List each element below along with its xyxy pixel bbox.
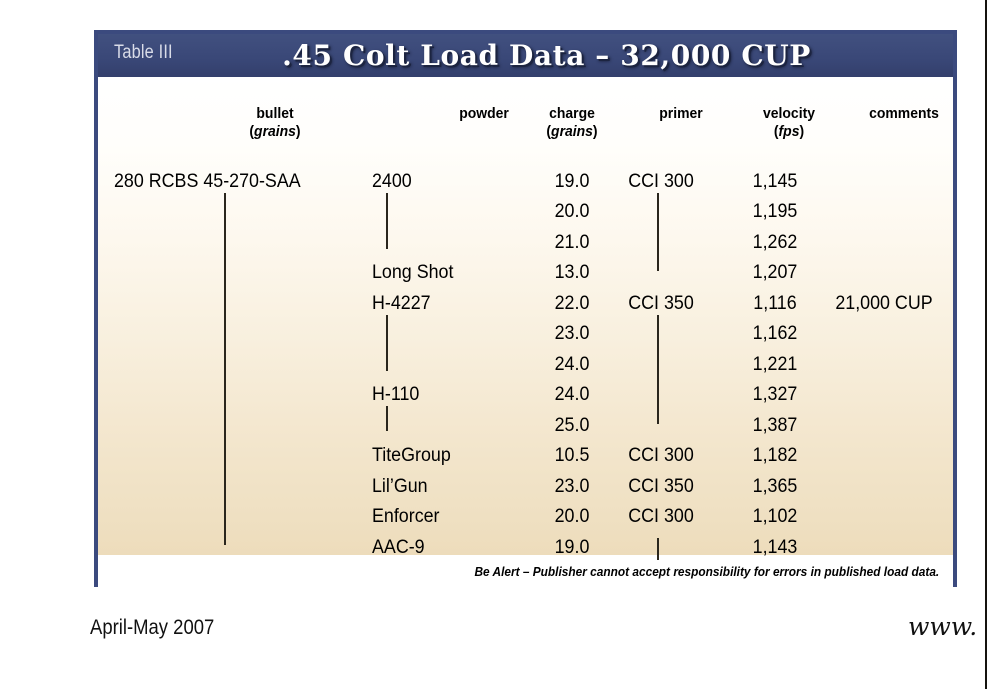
primer-continuation-rule-cci350 [657, 315, 659, 424]
table-row: 1,207 [690, 263, 859, 283]
table-row: Lil’Gun [372, 477, 428, 497]
column-header-bullet-name: bullet [159, 105, 392, 123]
table-row: 280 RCBS 45-270-SAA [114, 172, 301, 192]
table-row: 1,182 [690, 446, 859, 466]
table-row: AAC-9 [372, 538, 425, 558]
table-row: 21.0 [487, 233, 656, 253]
page-footer-url: www. [908, 612, 977, 641]
table-row: 20.0 [487, 202, 656, 222]
table-row: 1,327 [690, 385, 859, 405]
column-header-comments: comments [820, 105, 987, 123]
table-row: 1,262 [690, 233, 859, 253]
page-edge-rule [985, 0, 987, 689]
page-footer-date: April-May 2007 [90, 616, 214, 640]
powder-continuation-rule-h110 [386, 406, 388, 431]
table-row: 1,387 [690, 416, 859, 436]
table-row: 24.0 [487, 355, 656, 375]
table-row: 21,000 CUP [799, 294, 968, 314]
column-header-bullet-unit: (grains) [159, 123, 392, 141]
table-row: 23.0 [487, 324, 656, 344]
table-row: 1,365 [690, 477, 859, 497]
column-header-comments-name: comments [820, 105, 987, 123]
table-title: .45 Colt Load Data – 32,000 CUP [98, 39, 953, 72]
bullet-column-continuation-rule [224, 193, 226, 545]
table-row: Enforcer [372, 507, 440, 527]
table-row: 25.0 [487, 416, 656, 436]
table-row: 19.0 [487, 538, 656, 558]
table-row: TiteGroup [372, 446, 451, 466]
load-data-table: Table III .45 Colt Load Data – 32,000 CU… [94, 30, 957, 587]
table-row: 1,221 [690, 355, 859, 375]
primer-continuation-rule-cci300 [657, 193, 659, 271]
column-header-velocity-unit: (fps) [705, 123, 872, 141]
table-row: Long Shot [372, 263, 453, 283]
powder-continuation-rule-2400 [386, 193, 388, 249]
table-row: 13.0 [487, 263, 656, 283]
table-row: 2400 [372, 172, 412, 192]
table-row: 1,145 [690, 172, 859, 192]
table-row: 1,195 [690, 202, 859, 222]
table-disclaimer: Be Alert – Publisher cannot accept respo… [474, 565, 939, 579]
table-row: H-4227 [372, 294, 431, 314]
table-title-bar: Table III .45 Colt Load Data – 32,000 CU… [98, 34, 953, 77]
primer-continuation-rule-aac9 [657, 538, 659, 560]
table-row: 24.0 [487, 385, 656, 405]
powder-continuation-rule-h4227 [386, 315, 388, 371]
table-row: 1,102 [690, 507, 859, 527]
table-body: bullet (grains) powder charge (grains) p… [98, 77, 953, 587]
column-header-bullet: bullet (grains) [159, 105, 392, 141]
table-row: H-110 [372, 385, 419, 405]
table-row: 1,143 [690, 538, 859, 558]
table-row: 1,162 [690, 324, 859, 344]
column-header-charge-unit: (grains) [488, 123, 655, 141]
